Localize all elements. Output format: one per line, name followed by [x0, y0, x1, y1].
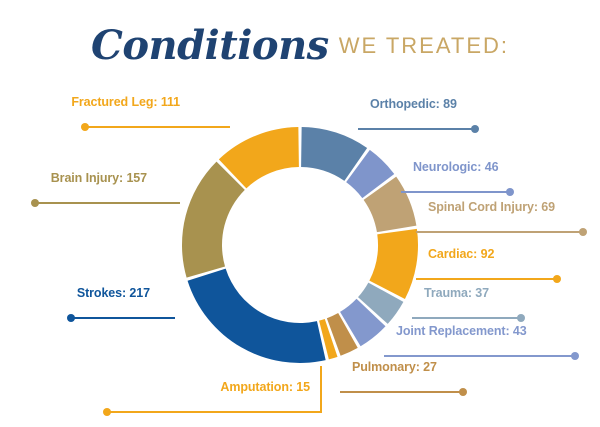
- callout-label-neurologic: Neurologic: 46: [413, 160, 498, 174]
- callout-label-amputation: Amputation: 15: [0, 380, 310, 394]
- callout-text: Orthopedic: 89: [370, 97, 457, 111]
- leader-dot-orthopedic: [471, 125, 479, 133]
- leader-dot-spinal-cord-injury: [579, 228, 587, 236]
- callout-label-spinal-cord-injury: Spinal Cord Injury: 69: [428, 200, 555, 214]
- callout-text: Cardiac: 92: [428, 247, 494, 261]
- leader-dot-cardiac: [553, 275, 561, 283]
- leader-dot-fractured-leg: [81, 123, 89, 131]
- callout-text: Joint Replacement: 43: [396, 324, 527, 338]
- leader-line-cardiac: [416, 278, 560, 280]
- callout-label-strokes: Strokes: 217: [0, 286, 150, 300]
- leader-dot-brain-injury: [31, 199, 39, 207]
- donut-slice-brain-injury[interactable]: [182, 162, 245, 278]
- callout-label-brain-injury: Brain Injury: 157: [0, 171, 147, 185]
- leader-line-spinal-cord-injury: [416, 231, 586, 233]
- leader-dot-trauma: [517, 314, 525, 322]
- callout-label-orthopedic: Orthopedic: 89: [370, 97, 457, 111]
- callout-text: Amputation: 15: [0, 380, 310, 394]
- callout-label-joint-replacement: Joint Replacement: 43: [396, 324, 527, 338]
- callout-label-fractured-leg: Fractured Leg: 111: [0, 95, 180, 109]
- leader-line-neurologic: [401, 191, 513, 193]
- callout-text: Neurologic: 46: [413, 160, 498, 174]
- callout-text: Brain Injury: 157: [0, 171, 147, 185]
- leader-dot-joint-replacement: [571, 352, 579, 360]
- callout-text: Trauma: 37: [424, 286, 489, 300]
- callout-label-pulmonary: Pulmonary: 27: [352, 360, 437, 374]
- leader-line-joint-replacement: [384, 355, 578, 357]
- leader-dot-neurologic: [506, 188, 514, 196]
- callout-text: Fractured Leg: 111: [0, 95, 180, 109]
- leader-line-fractured-leg: [82, 126, 230, 128]
- leader-dot-strokes: [67, 314, 75, 322]
- callout-text: Spinal Cord Injury: 69: [428, 200, 555, 214]
- leader-dot-pulmonary: [459, 388, 467, 396]
- callout-text: Pulmonary: 27: [352, 360, 437, 374]
- leader-line-orthopedic: [358, 128, 478, 130]
- leader-line-brain-injury: [32, 202, 180, 204]
- donut-slice-strokes[interactable]: [188, 269, 326, 363]
- callout-label-cardiac: Cardiac: 92: [428, 247, 494, 261]
- infographic-canvas: ConditionsWE TREATED: Orthopedic: 89Neur…: [0, 0, 600, 427]
- leader-line-strokes: [68, 317, 175, 319]
- callout-text: Strokes: 217: [0, 286, 150, 300]
- callout-label-trauma: Trauma: 37: [424, 286, 489, 300]
- leader-line-trauma: [412, 317, 524, 319]
- leader-line-pulmonary: [340, 391, 466, 393]
